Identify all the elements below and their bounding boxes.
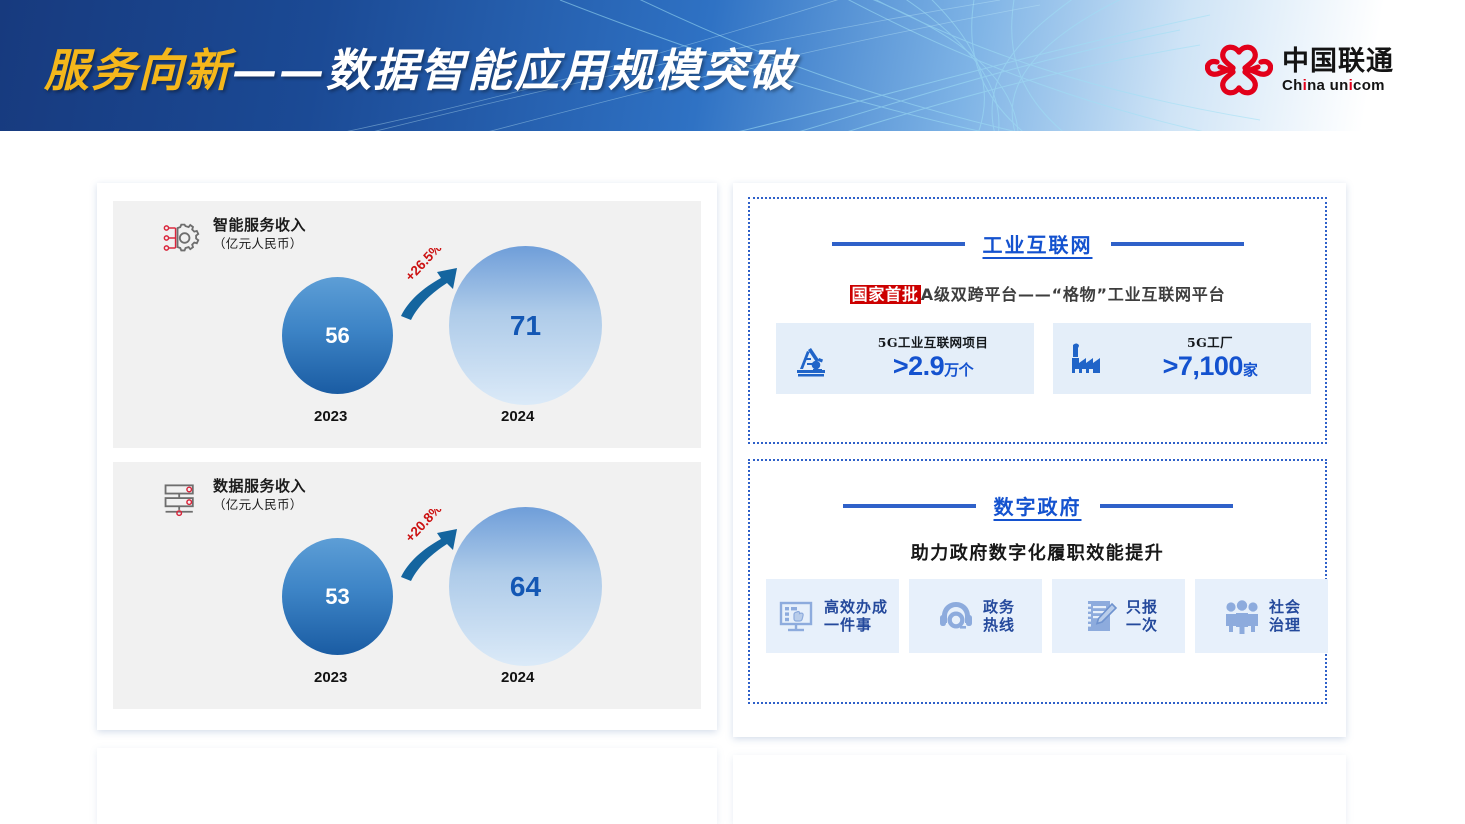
logo-en-part-c: com xyxy=(1353,77,1385,94)
logo-en-part-b: na un xyxy=(1307,77,1349,94)
revenue-value-current: 64 xyxy=(510,571,541,603)
gov-item-line2: 一件事 xyxy=(824,616,888,634)
growth-percentage: +20.8% xyxy=(402,509,444,545)
section-subtitle: 国家首批A级双跨平台——“格物”工业互联网平台 xyxy=(750,281,1325,305)
gov-item: 政务 热线 xyxy=(909,579,1042,653)
stat-unit: 家 xyxy=(1243,361,1258,379)
gov-item: 只报 一次 xyxy=(1052,579,1185,653)
header-rule-left xyxy=(832,242,965,246)
subtitle-rest: A级双跨平台——“格物”工业互联网平台 xyxy=(921,285,1226,304)
people-group-icon xyxy=(1222,596,1262,636)
revenue-value-previous: 56 xyxy=(325,323,349,349)
logo-en-part-a: Ch xyxy=(1282,77,1303,94)
section-subtitle: 助力政府数字化履职效能提升 xyxy=(750,539,1325,565)
capabilities-panel: 工业互联网 国家首批A级双跨平台——“格物”工业互联网平台 xyxy=(733,183,1346,737)
revenue-year-current: 2024 xyxy=(501,408,534,425)
gov-item-line1: 政务 xyxy=(983,598,1015,616)
revenue-bubble-previous: 56 xyxy=(282,277,393,394)
revenue-card-title: 数据服务收入 xyxy=(213,478,306,495)
revenue-bubble-previous: 53 xyxy=(282,538,393,655)
stat-box: 5G工业互联网项目 >2.9万个 xyxy=(776,323,1034,394)
header-rule-right xyxy=(1111,242,1244,246)
revenue-card: 数据服务收入 （亿元人民币） 53 2023 +20.8% 64 2024 xyxy=(113,462,701,709)
gov-item: 社会 治理 xyxy=(1195,579,1328,653)
stat-number: >2.9 xyxy=(893,351,944,381)
revenue-year-previous: 2023 xyxy=(314,408,347,425)
panel-continuation-right xyxy=(733,755,1346,824)
oil-pump-icon xyxy=(788,336,834,382)
monitor-cursor-icon xyxy=(777,596,817,636)
stat-value: >2.9万个 xyxy=(893,353,973,380)
page-title-gold: 服务向新 xyxy=(44,44,232,97)
gov-item-line2: 治理 xyxy=(1269,616,1301,634)
gov-item-line1: 高效办成 xyxy=(824,598,888,616)
server-rack-icon xyxy=(161,479,201,519)
revenue-bubble-current: 64 xyxy=(449,507,602,666)
revenue-card: 智能服务收入 （亿元人民币） 56 2023 +26.5% 71 2024 xyxy=(113,201,701,448)
gov-item: 高效办成 一件事 xyxy=(766,579,899,653)
header-rule-right xyxy=(1100,504,1233,508)
revenue-card-unit: （亿元人民币） xyxy=(213,237,306,251)
header-banner: 服务向新——数据智能应用规模突破 中国联通 China unicom xyxy=(0,0,1465,138)
china-unicom-logo: 中国联通 China unicom xyxy=(1205,44,1394,96)
factory-icon xyxy=(1065,336,1111,382)
gear-circuit-icon xyxy=(161,218,201,258)
revenue-panel: 智能服务收入 （亿元人民币） 56 2023 +26.5% 71 2024 xyxy=(97,183,717,730)
page-title: 服务向新——数据智能应用规模突破 xyxy=(44,34,796,99)
stat-number: >7,100 xyxy=(1163,351,1243,381)
logo-text-en: China unicom xyxy=(1282,78,1394,93)
revenue-card-header: 智能服务收入 （亿元人民币） xyxy=(161,217,306,258)
section-title: 数字政府 xyxy=(994,491,1082,520)
revenue-card-title: 智能服务收入 xyxy=(213,217,306,234)
banner-bottom-edge xyxy=(0,131,1465,138)
revenue-year-current: 2024 xyxy=(501,669,534,686)
revenue-card-unit: （亿元人民币） xyxy=(213,498,306,512)
growth-percentage: +26.5% xyxy=(402,248,444,284)
gov-item-line1: 只报 xyxy=(1126,598,1158,616)
logo-text-cn: 中国联通 xyxy=(1282,48,1394,75)
section-title: 工业互联网 xyxy=(983,229,1093,258)
revenue-year-previous: 2023 xyxy=(314,669,347,686)
stat-caption: 5G工业互联网项目 xyxy=(878,337,988,350)
unicom-knot-icon xyxy=(1205,44,1273,96)
subtitle-highlight: 国家首批 xyxy=(850,285,921,304)
section-header: 数字政府 xyxy=(750,491,1325,520)
section-industrial-internet: 工业互联网 国家首批A级双跨平台——“格物”工业互联网平台 xyxy=(748,197,1327,444)
government-item-row: 高效办成 一件事 政务 热线 xyxy=(766,579,1328,653)
stat-value: >7,100家 xyxy=(1163,353,1258,380)
stat-caption: 5G工厂 xyxy=(1187,337,1233,350)
stat-box: 5G工厂 >7,100家 xyxy=(1053,323,1311,394)
section-digital-government: 数字政府 助力政府数字化履职效能提升 xyxy=(748,459,1327,704)
revenue-bubble-current: 71 xyxy=(449,246,602,405)
page-title-white: ——数据智能应用规模突破 xyxy=(232,44,796,97)
revenue-card-header: 数据服务收入 （亿元人民币） xyxy=(161,478,306,519)
revenue-value-previous: 53 xyxy=(325,584,349,610)
panel-continuation-left xyxy=(97,748,717,824)
headset-icon xyxy=(936,596,976,636)
clipboard-pen-icon xyxy=(1079,596,1119,636)
gov-item-line1: 社会 xyxy=(1269,598,1301,616)
gov-item-line2: 热线 xyxy=(983,616,1015,634)
stat-unit: 万个 xyxy=(944,361,973,379)
section-header: 工业互联网 xyxy=(750,229,1325,258)
industrial-stat-row: 5G工业互联网项目 >2.9万个 5G工厂 xyxy=(776,323,1311,394)
header-rule-left xyxy=(843,504,976,508)
revenue-value-current: 71 xyxy=(510,310,541,342)
gov-item-line2: 一次 xyxy=(1126,616,1158,634)
